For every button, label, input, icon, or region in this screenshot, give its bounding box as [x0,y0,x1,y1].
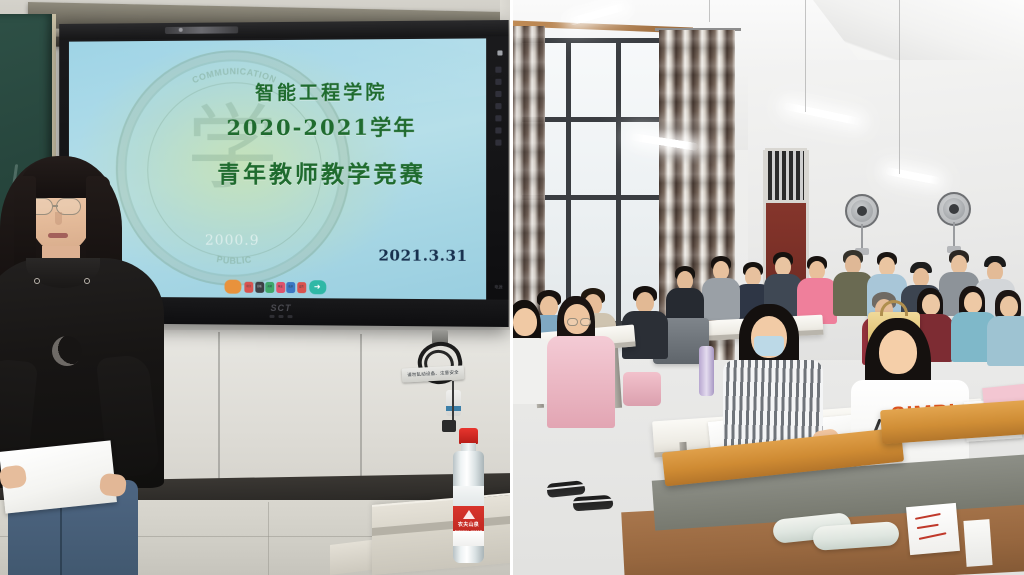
hanging-wire [452,381,454,421]
settings-caption: 设置 [299,286,304,288]
home-icon[interactable] [225,280,242,294]
bottle-subtitle: NATURAL WATER [455,529,483,533]
glasses-bridge [53,205,58,207]
back-button[interactable] [495,140,501,146]
bottle-brand: 农夫山泉 [458,521,479,528]
seal-arc-text-bottom: PUBLIC [216,254,253,266]
home-button[interactable] [495,127,501,133]
left-photo-presenter: 学 2000.9 COMMUNICATION PUBLIC [0,0,512,575]
pink-bag [623,372,661,406]
fan-hub [857,206,867,216]
svg-text:PUBLIC: PUBLIC [216,254,253,266]
screen-toolbar[interactable]: 批注 白板 画笔 橡皮 截屏 [225,280,326,295]
light-stem [899,0,900,174]
slide-line-event: 青年教师教学竞赛 [172,155,473,189]
window-mullion [616,43,621,331]
photo-divider [510,0,513,575]
side-button-label: 电源 [491,285,505,291]
menu-button[interactable] [495,79,501,85]
annotate-icon[interactable]: 批注 [244,281,253,292]
shoe-right [573,495,614,512]
wall-seam [360,334,362,484]
mouth [48,233,68,238]
purple-thermos [699,346,714,396]
pen-icon[interactable]: 画笔 [265,281,274,292]
shoe-left [546,480,585,498]
settings-icon[interactable]: 设置 [297,282,306,293]
right-photo-classroom: SIMPLE [513,0,1024,575]
hand-right [99,473,127,498]
source-button[interactable] [495,91,501,97]
slide-line-academic-year: 2020-2021学年 [172,111,473,142]
glasses-lens-right [580,318,591,326]
eraser-icon[interactable]: 橡皮 [276,281,285,292]
screenshot-icon[interactable]: 截屏 [286,282,295,293]
camera-strip [165,26,238,34]
photo-composite: 学 2000.9 COMMUNICATION PUBLIC [0,0,1024,575]
hoodie-grommet-left [34,278,40,284]
power-button[interactable] [495,67,501,73]
camera-lens-icon [179,28,183,32]
fan-arm [861,224,863,250]
screenshot-caption: 截屏 [288,286,293,288]
fan-arm [953,222,955,248]
warning-sign-text: 请勿乱动设备、注意安全 [407,370,459,379]
handwritten-note [906,503,960,555]
door-window-grille [765,148,807,203]
volume-up-button[interactable] [495,103,501,109]
light-stem [805,0,806,112]
pen-caption: 画笔 [267,286,272,288]
glasses-lens-left [567,318,578,326]
bezel-key[interactable] [279,315,284,318]
arrow-glyph: ➜ [314,283,321,291]
next-arrow-icon[interactable]: ➜ [309,280,326,294]
presenter-teacher [0,150,166,575]
bottle-upper-label [453,486,484,506]
nose [55,212,62,225]
board-top-bezel [59,20,508,40]
window-mullion [566,43,571,331]
bezel-key[interactable] [287,315,292,318]
wall-fan-left [845,194,879,228]
water-bottle: 农夫山泉 NATURAL WATER [452,428,486,564]
hoodie-grommet-right [84,278,90,284]
power-led-icon [497,50,502,55]
wall-seam [218,332,220,484]
whiteboard-caption: 白板 [257,286,262,288]
bezel-key[interactable] [270,315,275,318]
fan-hub [949,204,959,214]
white-object [963,519,992,567]
annotate-caption: 批注 [246,286,251,288]
brand-logo: SCT [271,303,292,313]
bezel-keys[interactable] [270,315,293,318]
bottle-cap [459,428,478,444]
slide-line-college: 智能工程学院 [172,77,473,106]
light-stem [709,0,710,22]
whiteboard-icon[interactable]: 白板 [255,281,264,292]
crescent-moon-cutout [52,336,82,366]
slide-title-block: 智能工程学院 2020-2021学年 青年教师教学竞赛 [172,77,473,189]
bottle-label: 农夫山泉 NATURAL WATER [453,506,484,546]
wall-fan-right [937,192,971,226]
face-mask-icon [754,336,784,356]
toolbar-icon-group[interactable]: 批注 白板 画笔 橡皮 截屏 [244,281,305,292]
slide-date: 2021.3.31 [378,246,467,265]
eraser-caption: 橡皮 [278,286,283,288]
volume-down-button[interactable] [495,115,501,121]
mountain-icon [463,510,475,519]
board-side-buttons[interactable] [493,67,503,146]
